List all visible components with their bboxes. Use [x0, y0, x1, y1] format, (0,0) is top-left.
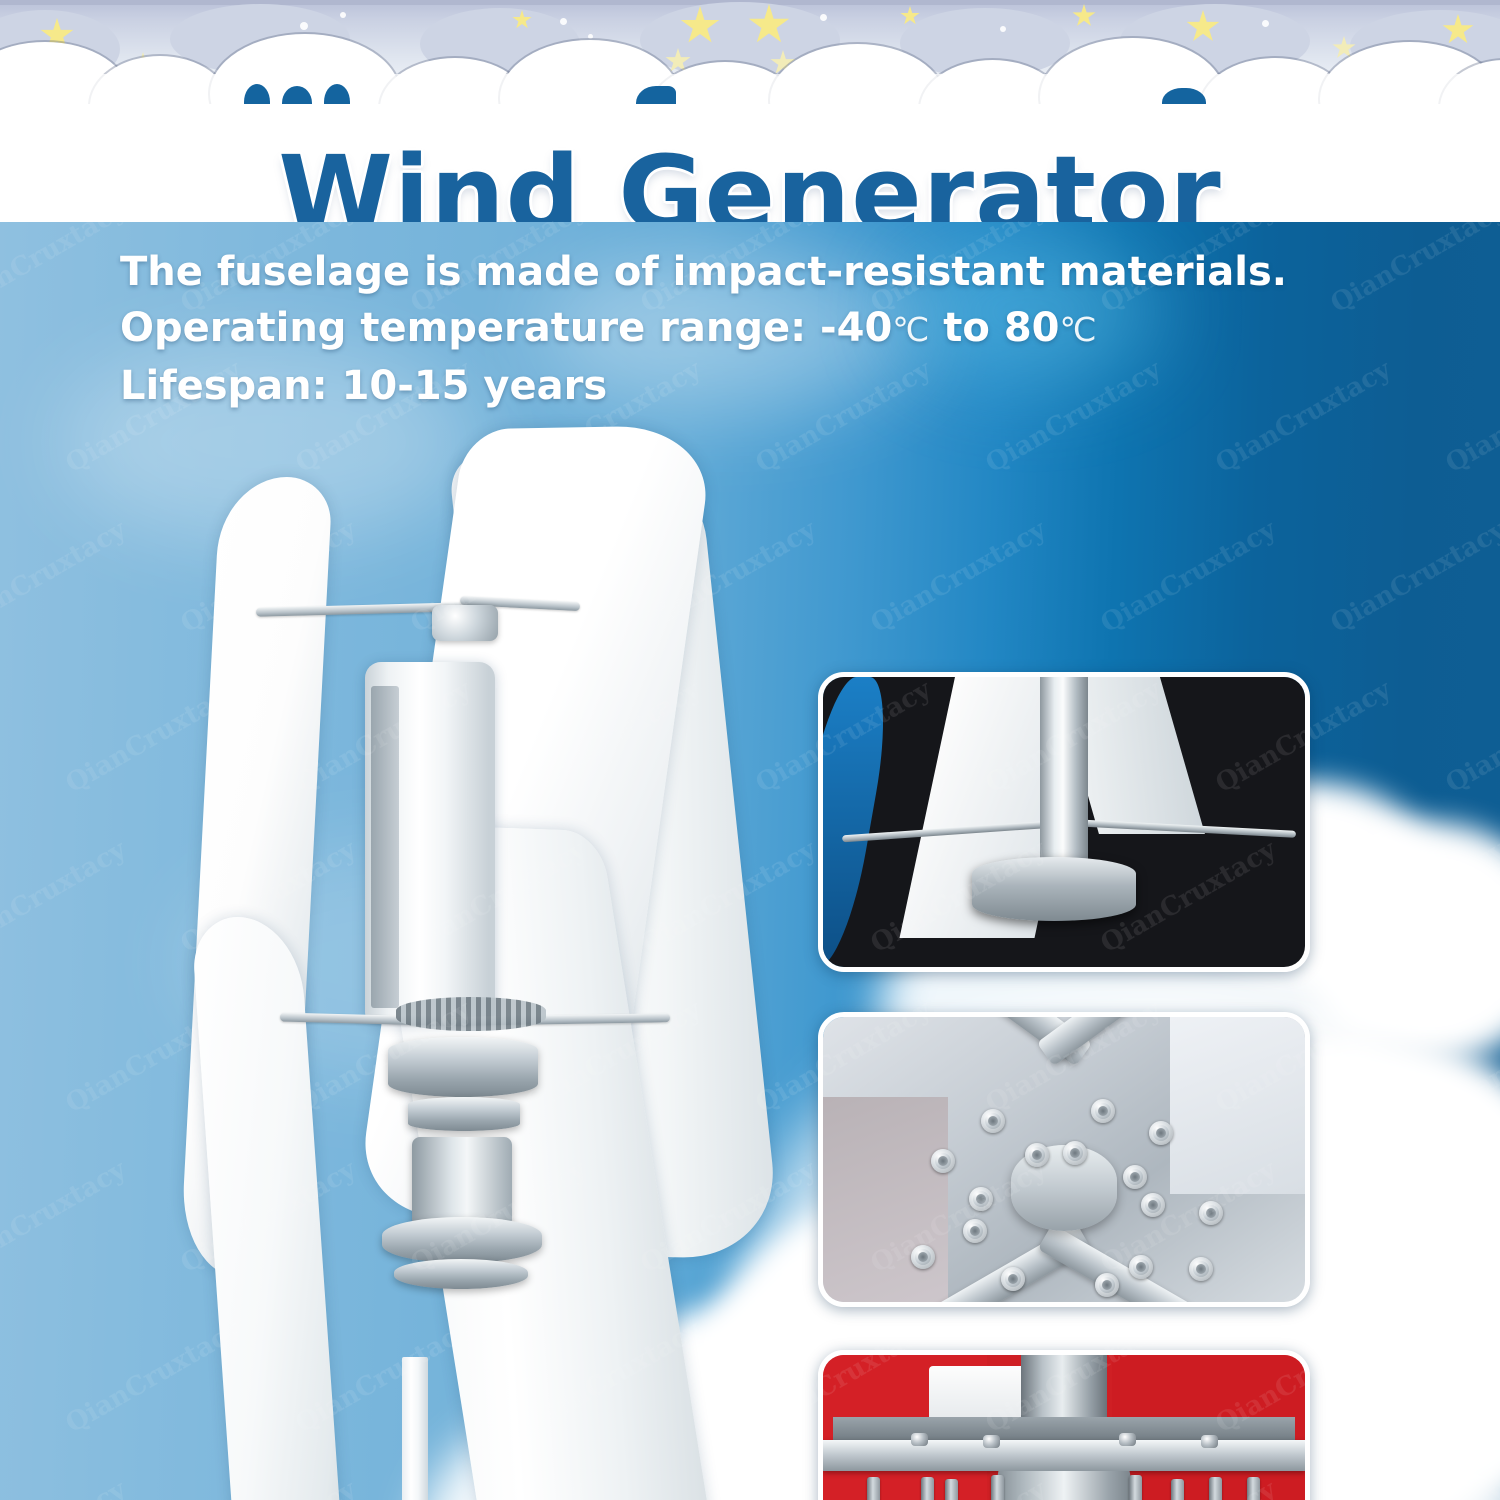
hub-bolt [1141, 1193, 1165, 1217]
spec-line-1: The fuselage is made of impact-resistant… [120, 244, 1070, 300]
stud-bolt [991, 1475, 1004, 1500]
hub-bolt [1025, 1143, 1049, 1167]
hub-bolt [963, 1219, 987, 1243]
hub-bolt [911, 1245, 935, 1269]
hub-bolt [1189, 1257, 1213, 1281]
mounting-flange [823, 1440, 1305, 1471]
hub-bolt [1091, 1099, 1115, 1123]
hub-bolt [1001, 1267, 1025, 1291]
detail-panel-hub-bolts[interactable] [818, 1012, 1310, 1307]
page-title: Wind Generator [0, 142, 1500, 222]
stud-bolt [1209, 1477, 1222, 1500]
blade-face [823, 1097, 948, 1302]
stud-bolt [945, 1479, 958, 1500]
turbine-generator-housing [365, 662, 495, 1022]
hub-bolt [1063, 1141, 1087, 1165]
stud-bolt [1171, 1479, 1184, 1500]
specification-text: The fuselage is made of impact-resistant… [120, 244, 1070, 414]
hub-bolt [1095, 1273, 1119, 1297]
wind-turbine-product-image [160, 397, 780, 1500]
shaft-cone [982, 1471, 1146, 1500]
header-band: Wind Generator [0, 0, 1500, 222]
hub-bolt [931, 1149, 955, 1173]
turbine-bearing-body [412, 1137, 512, 1227]
stud-bolt [1247, 1477, 1260, 1500]
turbine-bearing-disc [388, 1037, 538, 1097]
sky-background: The fuselage is made of impact-resistant… [0, 222, 1500, 1500]
hub-bolt [969, 1187, 993, 1211]
detail-panel-shaft-bearing[interactable] [818, 672, 1310, 972]
hub-bolt [1199, 1201, 1223, 1225]
hub-bolt [981, 1109, 1005, 1133]
turbine-gear-ring [396, 997, 546, 1031]
flange-nut [1119, 1433, 1136, 1446]
detail-panel-mounting-flange[interactable] [818, 1350, 1310, 1500]
flange-nut [911, 1433, 928, 1446]
turbine-pole [402, 1357, 428, 1500]
turbine-bearing-disc [408, 1097, 520, 1131]
turbine-base-flange [382, 1217, 542, 1263]
turbine-upper-hub [432, 605, 498, 641]
stud-bolt [867, 1477, 880, 1500]
blade-face [1170, 1017, 1305, 1194]
stud-bolt [1129, 1475, 1142, 1500]
stud-bolt [921, 1477, 934, 1500]
hub-bolt [1123, 1165, 1147, 1189]
flange-nut [983, 1435, 1000, 1448]
star-icon [1072, 4, 1096, 28]
spec-line-2: Operating temperature range: -40℃ to 80℃ [120, 300, 1070, 358]
spec-line-3: Lifespan: 10-15 years [120, 358, 1070, 414]
hub-bolt [1149, 1121, 1173, 1145]
upper-plate [833, 1417, 1296, 1440]
hub-bolt [1129, 1255, 1153, 1279]
flange-nut [1201, 1435, 1218, 1448]
housing-seam [371, 686, 399, 1008]
turbine-base-flange [394, 1259, 528, 1289]
cloud-star-border-decoration [0, 0, 1500, 104]
bearing-assembly [972, 857, 1136, 921]
turbine-blade [191, 917, 348, 1500]
product-poster: Wind Generator [0, 0, 1500, 1500]
